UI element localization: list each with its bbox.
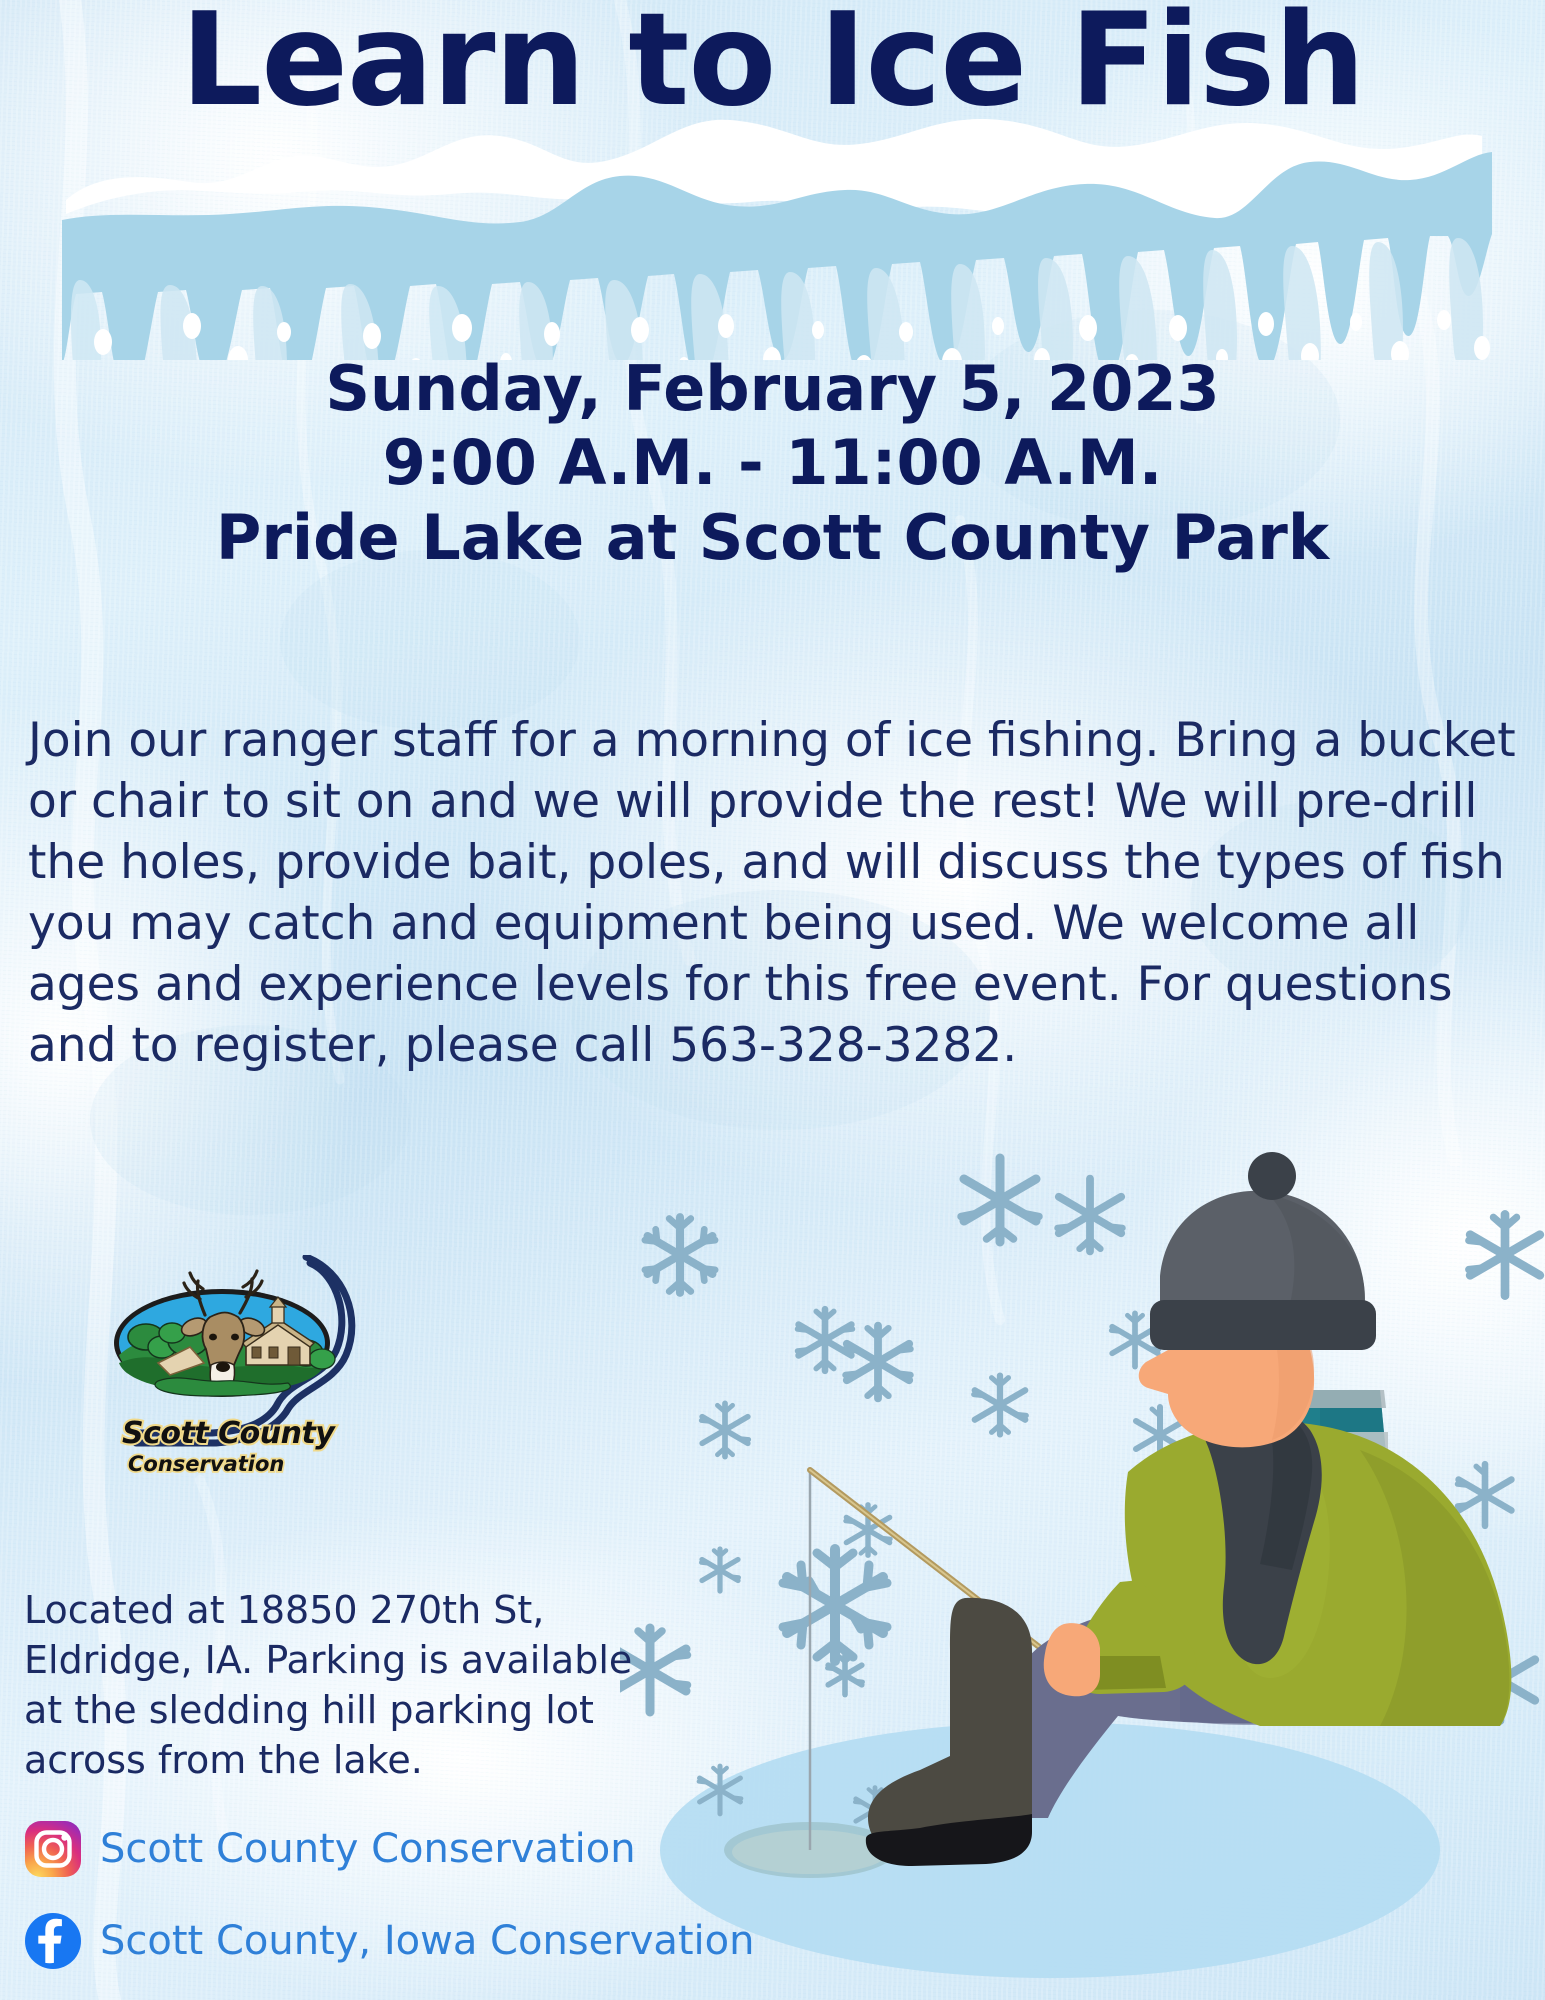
hand <box>1044 1623 1100 1696</box>
facebook-icon[interactable] <box>24 1912 82 1970</box>
event-location: Pride Lake at Scott County Park <box>0 501 1545 575</box>
instagram-handle[interactable]: Scott County Conservation <box>100 1826 636 1872</box>
directions-text: Located at 18850 270th St, Eldridge, IA.… <box>24 1585 664 1786</box>
knit-hat <box>1150 1152 1376 1350</box>
flyer-page: Learn to Ice Fish <box>0 0 1545 2000</box>
social-row-facebook[interactable]: Scott County, Iowa Conservation <box>24 1912 755 1970</box>
social-row-instagram[interactable]: Scott County Conservation <box>24 1820 636 1878</box>
event-details: Sunday, February 5, 2023 9:00 A.M. - 11:… <box>0 352 1545 575</box>
logo-name-bottom: Conservation <box>128 1452 284 1476</box>
logo-name-top: Scott County <box>122 1416 336 1451</box>
page-title: Learn to Ice Fish <box>0 0 1545 128</box>
ice-fisherman-illustration <box>620 1150 1545 2000</box>
facebook-handle[interactable]: Scott County, Iowa Conservation <box>100 1918 755 1964</box>
event-description: Join our ranger staff for a morning of i… <box>28 710 1518 1077</box>
event-time: 9:00 A.M. - 11:00 A.M. <box>0 426 1545 500</box>
hat-pom <box>1248 1152 1296 1200</box>
instagram-icon[interactable] <box>24 1820 82 1878</box>
snow-icicle-border <box>0 110 1545 360</box>
scott-county-conservation-logo: Scott County Conservation <box>100 1255 400 1485</box>
event-date: Sunday, February 5, 2023 <box>0 352 1545 426</box>
